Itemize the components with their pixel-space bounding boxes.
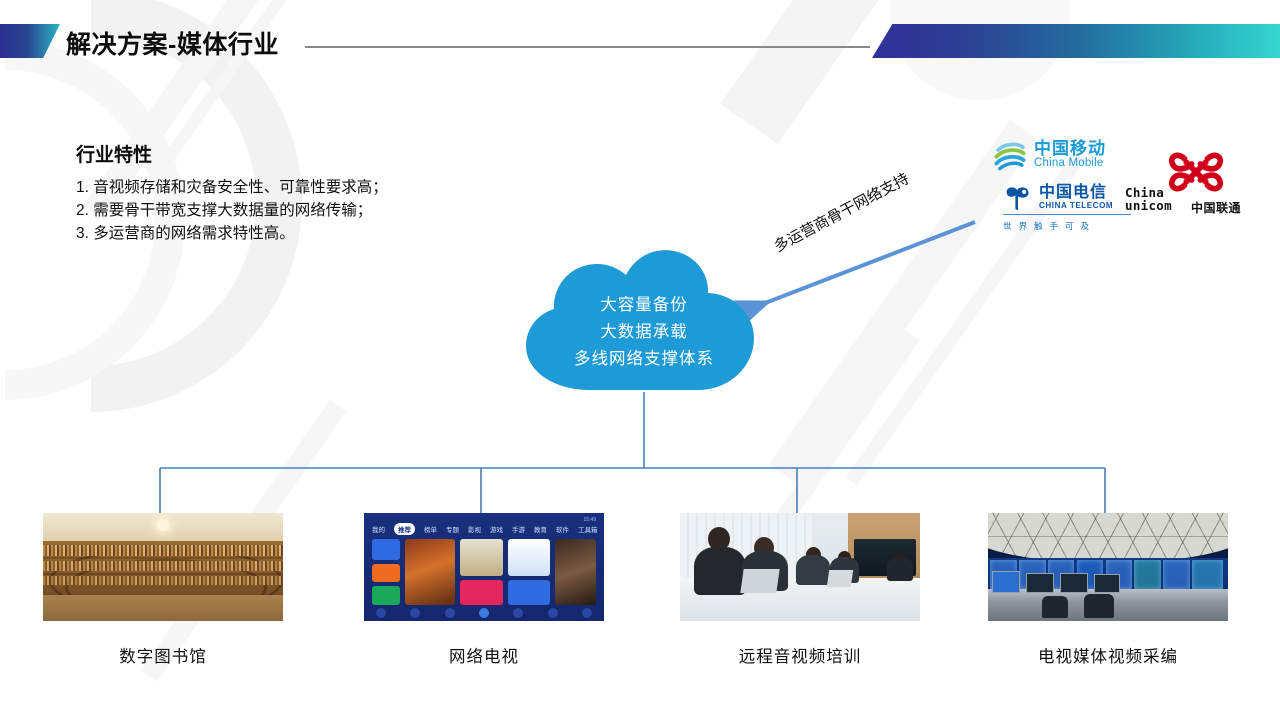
china-unicom-icon bbox=[1165, 146, 1227, 198]
network-tv-label: 网络电视 bbox=[364, 643, 604, 667]
digital-library-label: 数字图书馆 bbox=[43, 643, 283, 667]
cloud-text: 大容量备份 大数据承载 多线网络支撑体系 bbox=[512, 292, 776, 373]
china-telecom-divider bbox=[1003, 214, 1131, 215]
card-digital-library[interactable]: 数字图书馆 bbox=[43, 513, 283, 667]
cloud-line-2: 大数据承载 bbox=[512, 319, 776, 346]
tv-media-production-label: 电视媒体视频采编 bbox=[988, 643, 1228, 667]
feature-item-2: 2. 需要骨干带宽支撑大数据量的网络传输； bbox=[76, 199, 516, 222]
china-telecom-logo: 中国电信 CHINA TELECOM bbox=[1003, 184, 1113, 212]
china-mobile-cn: 中国移动 bbox=[1034, 140, 1106, 157]
card-network-tv[interactable]: 15:49 我的 推荐 榜单 专题 影视 游戏 手游 教育 软件 工具箱 bbox=[364, 513, 604, 667]
cloud-line-1: 大容量备份 bbox=[512, 292, 776, 319]
industry-features: 行业特性 1. 音视频存储和灾备安全性、可靠性要求高； 2. 需要骨干带宽支撑大… bbox=[76, 140, 516, 245]
tv-nav: 我的 推荐 榜单 专题 影视 游戏 手游 教育 软件 工具箱 bbox=[372, 523, 596, 534]
remote-av-training-image bbox=[680, 513, 920, 621]
arrow-label: 多运营商骨干网络支持 bbox=[770, 168, 912, 257]
page-title: 解决方案-媒体行业 bbox=[66, 25, 279, 61]
carrier-logos: 中国移动 China Mobile 中国电信 CHINA TELECOM 世界触… bbox=[985, 132, 1245, 237]
slide-canvas: 解决方案-媒体行业 行业特性 1. 音视频存储和灾备安全性、可靠性要求高； 2.… bbox=[0, 0, 1280, 720]
header-accent-right bbox=[872, 24, 1280, 58]
tv-media-production-image bbox=[988, 513, 1228, 621]
tv-dock bbox=[364, 607, 604, 619]
china-mobile-en: China Mobile bbox=[1034, 157, 1106, 170]
header-divider bbox=[305, 46, 870, 48]
china-unicom-en: China unicom bbox=[1125, 186, 1172, 212]
card-remote-av-training[interactable]: 远程音视频培训 bbox=[680, 513, 920, 667]
digital-library-image bbox=[43, 513, 283, 621]
remote-av-training-label: 远程音视频培训 bbox=[680, 643, 920, 667]
china-unicom-cn: 中国联通 bbox=[1191, 199, 1241, 216]
card-tv-media-production[interactable]: 电视媒体视频采编 bbox=[988, 513, 1228, 667]
feature-item-3: 3. 多运营商的网络需求特性高。 bbox=[76, 222, 516, 245]
feature-item-1: 1. 音视频存储和灾备安全性、可靠性要求高； bbox=[76, 176, 516, 199]
china-telecom-tagline: 世界触手可及 bbox=[1003, 220, 1131, 232]
china-telecom-icon bbox=[1003, 184, 1033, 212]
china-mobile-logo: 中国移动 China Mobile bbox=[993, 138, 1106, 172]
cloud-shape: 大容量备份 大数据承载 多线网络支撑体系 bbox=[512, 248, 776, 393]
china-mobile-icon bbox=[993, 138, 1027, 172]
cloud-line-3: 多线网络支撑体系 bbox=[512, 346, 776, 373]
background-stripe-3 bbox=[720, 0, 892, 144]
china-telecom-en: CHINA TELECOM bbox=[1039, 201, 1113, 211]
china-telecom-cn: 中国电信 bbox=[1039, 185, 1113, 201]
china-unicom-logo: China unicom 中国联通 bbox=[1125, 146, 1243, 224]
header-accent-left bbox=[0, 24, 60, 58]
features-heading: 行业特性 bbox=[76, 140, 516, 167]
network-tv-image: 15:49 我的 推荐 榜单 专题 影视 游戏 手游 教育 软件 工具箱 bbox=[364, 513, 604, 621]
